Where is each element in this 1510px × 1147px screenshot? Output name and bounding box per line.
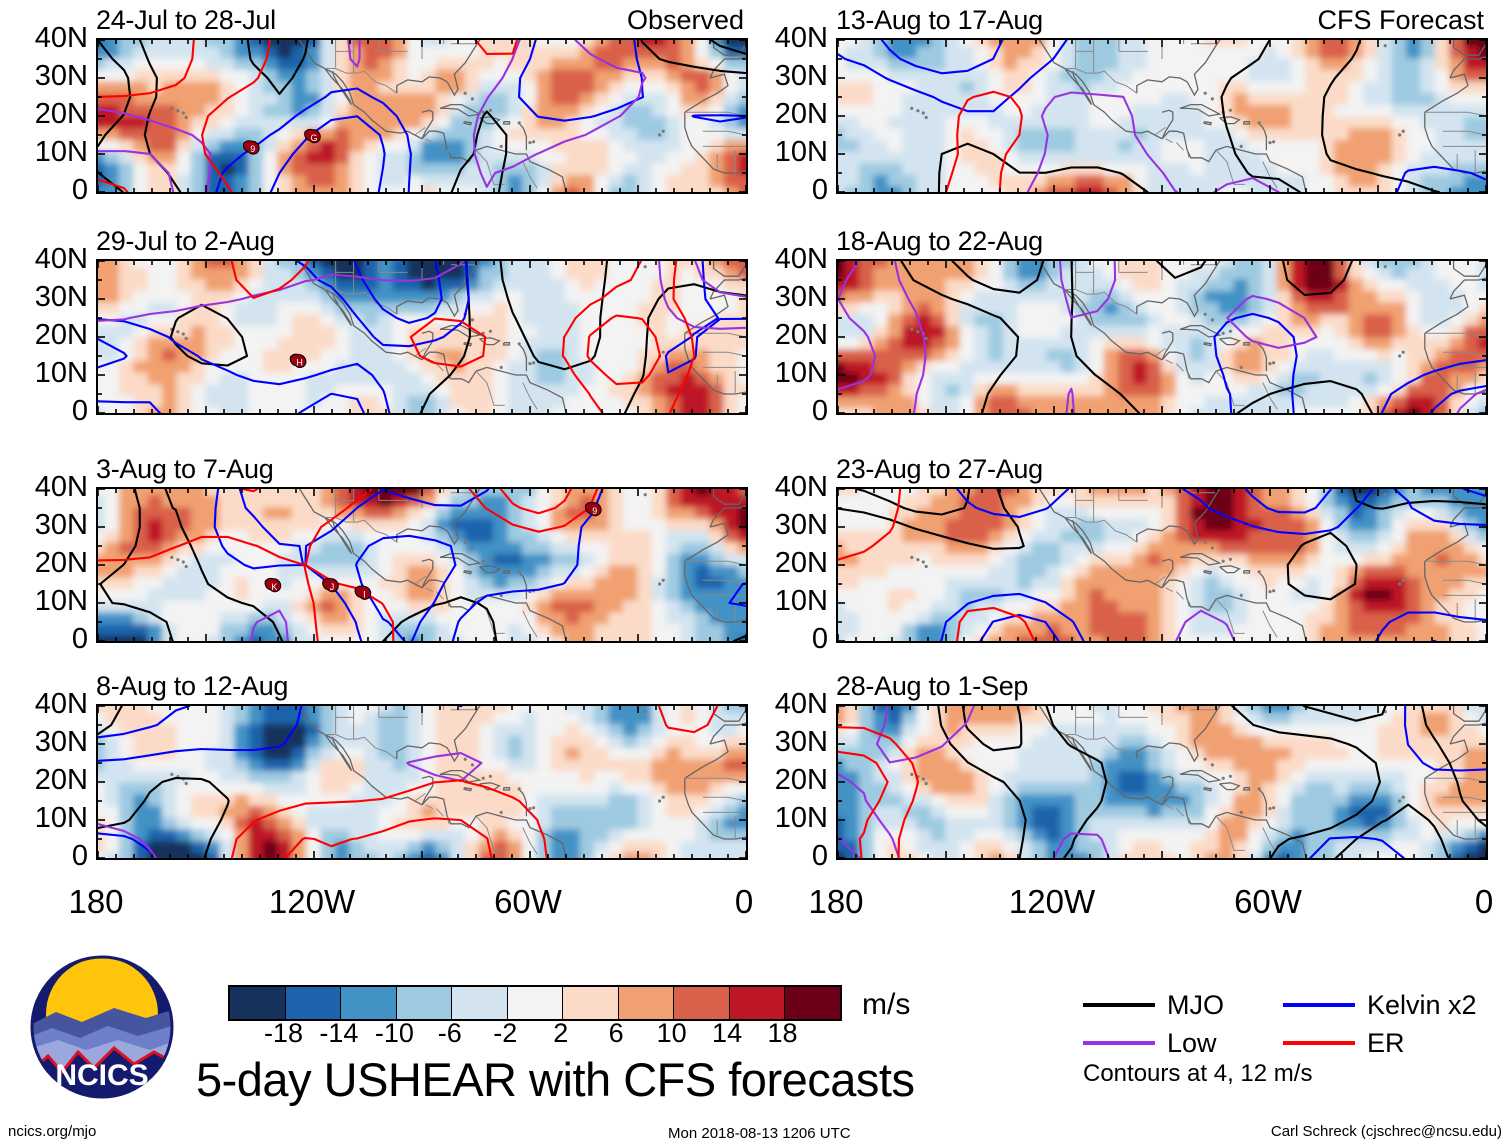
page-title: 5-day USHEAR with CFS forecasts	[196, 1056, 914, 1103]
map-p8	[836, 704, 1488, 860]
map-p3: KJI9	[96, 487, 748, 643]
panel-title-p3: 3-Aug to 7-Aug	[96, 456, 273, 483]
y-tick-p8-2: 20N	[744, 766, 828, 795]
y-tick-p8-3: 10N	[744, 804, 828, 833]
colorbar-swatch-9	[730, 987, 786, 1019]
y-tick-p2-0: 40N	[4, 245, 88, 274]
x-tick-right-3: 0	[1424, 885, 1510, 918]
shaded-field	[98, 40, 746, 192]
map-p2: H	[96, 259, 748, 415]
storm-label: G	[310, 133, 317, 143]
y-tick-p7-3: 10N	[744, 587, 828, 616]
column-header-left: Observed	[627, 7, 744, 34]
ncics-logo: NCICS	[22, 952, 182, 1102]
y-tick-p6-4: 0	[744, 397, 828, 426]
legend-label-er: ER	[1367, 1030, 1405, 1057]
y-tick-p1-0: 40N	[4, 24, 88, 53]
panel-title-p4: 8-Aug to 12-Aug	[96, 673, 288, 700]
shaded-field	[838, 706, 1486, 858]
y-tick-p4-2: 20N	[4, 766, 88, 795]
panel-title-p8: 28-Aug to 1-Sep	[836, 673, 1028, 700]
storm-label: H	[296, 358, 303, 368]
legend-label-low: Low	[1167, 1030, 1217, 1057]
map-p6	[836, 259, 1488, 415]
y-tick-p6-1: 30N	[744, 283, 828, 312]
y-tick-p1-1: 30N	[4, 62, 88, 91]
y-tick-p1-4: 0	[4, 176, 88, 205]
map-p1: 9G	[96, 38, 748, 194]
y-tick-p4-1: 30N	[4, 728, 88, 757]
shaded-field	[98, 706, 746, 858]
y-tick-p2-2: 20N	[4, 321, 88, 350]
map-p4	[96, 704, 748, 860]
legend-line-mjo	[1083, 1003, 1155, 1007]
storm-label: I	[363, 589, 366, 599]
y-tick-p3-2: 20N	[4, 549, 88, 578]
legend-label-kelvin-x2: Kelvin x2	[1367, 992, 1477, 1019]
map-p5	[836, 38, 1488, 194]
y-tick-p8-4: 0	[744, 842, 828, 871]
colorbar-swatch-0	[230, 987, 286, 1019]
colorbar-swatch-5	[508, 987, 564, 1019]
y-tick-p4-3: 10N	[4, 804, 88, 833]
y-tick-p7-2: 20N	[744, 549, 828, 578]
y-tick-p5-3: 10N	[744, 138, 828, 167]
storm-label: K	[271, 582, 277, 592]
y-tick-p5-2: 20N	[744, 100, 828, 129]
panel-title-p5: 13-Aug to 17-Aug	[836, 7, 1043, 34]
colorbar-swatch-6	[563, 987, 619, 1019]
y-tick-p6-3: 10N	[744, 359, 828, 388]
storm-label: 9	[250, 144, 255, 154]
shaded-field	[838, 489, 1486, 641]
y-tick-p3-3: 10N	[4, 587, 88, 616]
footer-left[interactable]: ncics.org/mjo	[8, 1124, 96, 1139]
storm-label: 9	[592, 506, 597, 516]
map-p7	[836, 487, 1488, 643]
y-tick-p6-0: 40N	[744, 245, 828, 274]
panel-title-p2: 29-Jul to 2-Aug	[96, 228, 275, 255]
y-tick-p3-0: 40N	[4, 473, 88, 502]
x-tick-left-0: 180	[36, 885, 156, 918]
footer-center: Mon 2018-08-13 1206 UTC	[668, 1126, 851, 1141]
shaded-field	[838, 40, 1486, 192]
y-tick-p2-4: 0	[4, 397, 88, 426]
colorbar-swatch-2	[341, 987, 397, 1019]
colorbar-swatch-1	[286, 987, 342, 1019]
colorbar-swatch-4	[452, 987, 508, 1019]
logo-text: NCICS	[55, 1059, 148, 1092]
shaded-field	[98, 261, 746, 413]
y-tick-p7-0: 40N	[744, 473, 828, 502]
shaded-field	[838, 261, 1486, 413]
y-tick-p7-1: 30N	[744, 511, 828, 540]
legend-line-er	[1283, 1041, 1355, 1045]
x-tick-right-1: 120W	[992, 885, 1112, 918]
y-tick-p3-1: 30N	[4, 511, 88, 540]
y-tick-p3-4: 0	[4, 625, 88, 654]
y-tick-p2-1: 30N	[4, 283, 88, 312]
y-tick-p8-0: 40N	[744, 690, 828, 719]
x-tick-left-1: 120W	[252, 885, 372, 918]
colorbar-swatch-7	[619, 987, 675, 1019]
colorbar-units-label: m/s	[862, 990, 910, 1020]
legend-line-kelvin-x2	[1283, 1003, 1355, 1007]
y-tick-p6-2: 20N	[744, 321, 828, 350]
colorbar-tick-9: 18	[748, 1020, 818, 1047]
y-tick-p4-4: 0	[4, 842, 88, 871]
panel-title-p6: 18-Aug to 22-Aug	[836, 228, 1043, 255]
colorbar-swatch-3	[397, 987, 453, 1019]
legend-label-mjo: MJO	[1167, 992, 1224, 1019]
y-tick-p5-0: 40N	[744, 24, 828, 53]
x-tick-left-2: 60W	[468, 885, 588, 918]
storm-label: J	[330, 582, 335, 592]
y-tick-p4-0: 40N	[4, 690, 88, 719]
colorbar	[228, 985, 842, 1021]
footer-right[interactable]: Carl Schreck (cjschrec@ncsu.edu)	[1271, 1124, 1502, 1139]
x-tick-right-0: 180	[776, 885, 896, 918]
x-tick-right-2: 60W	[1208, 885, 1328, 918]
y-tick-p1-3: 10N	[4, 138, 88, 167]
legend-line-low	[1083, 1041, 1155, 1045]
y-tick-p8-1: 30N	[744, 728, 828, 757]
contour-note: Contours at 4, 12 m/s	[1083, 1062, 1312, 1086]
y-tick-p1-2: 20N	[4, 100, 88, 129]
colorbar-swatch-8	[674, 987, 730, 1019]
y-tick-p5-1: 30N	[744, 62, 828, 91]
panel-title-p1: 24-Jul to 28-Jul	[96, 7, 276, 34]
panel-title-p7: 23-Aug to 27-Aug	[836, 456, 1043, 483]
y-tick-p2-3: 10N	[4, 359, 88, 388]
y-tick-p5-4: 0	[744, 176, 828, 205]
y-tick-p7-4: 0	[744, 625, 828, 654]
colorbar-swatch-10	[785, 987, 840, 1019]
column-header-right: CFS Forecast	[1317, 7, 1484, 34]
